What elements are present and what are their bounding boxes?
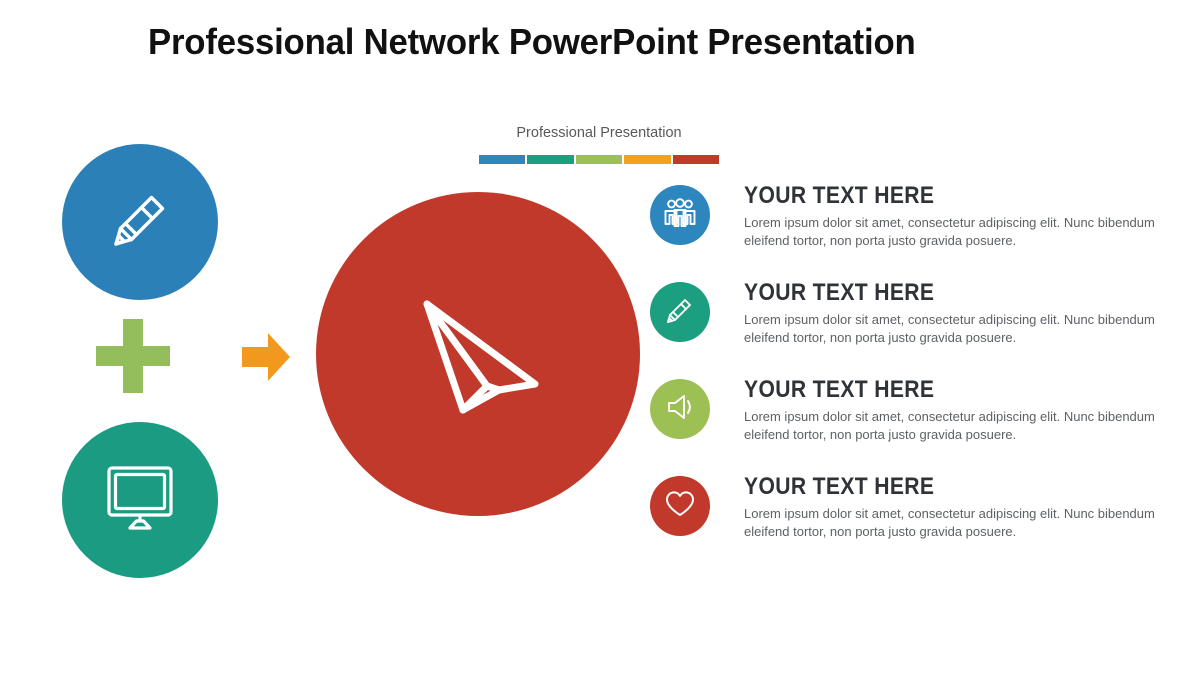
slide-canvas: Professional Network PowerPoint Presenta… — [0, 0, 1200, 675]
list-item-heading: YOUR TEXT HERE — [744, 377, 1136, 403]
list-item-body: YOUR TEXT HERE Lorem ipsum dolor sit ame… — [744, 474, 1190, 540]
list-item-text: Lorem ipsum dolor sit amet, consectetur … — [744, 214, 1185, 249]
people-group-icon — [664, 198, 696, 233]
plus-icon — [96, 319, 170, 393]
paper-plane-circle[interactable] — [316, 192, 640, 516]
pencil-circle[interactable] — [62, 144, 218, 300]
color-bar-segment-green — [576, 155, 622, 164]
list-item[interactable]: YOUR TEXT HERE Lorem ipsum dolor sit ame… — [650, 282, 1190, 379]
color-bar-segment-red — [673, 155, 719, 164]
list-item-heading: YOUR TEXT HERE — [744, 474, 1136, 500]
monitor-icon — [100, 460, 180, 541]
list-item-body: YOUR TEXT HERE Lorem ipsum dolor sit ame… — [744, 183, 1190, 249]
paper-plane-icon — [409, 282, 547, 427]
list-item[interactable]: YOUR TEXT HERE Lorem ipsum dolor sit ame… — [650, 476, 1190, 573]
heart-icon — [664, 489, 696, 524]
list-item-heading: YOUR TEXT HERE — [744, 280, 1136, 306]
pencil-icon — [664, 294, 696, 331]
list-item[interactable]: YOUR TEXT HERE Lorem ipsum dolor sit ame… — [650, 379, 1190, 476]
list-item-body: YOUR TEXT HERE Lorem ipsum dolor sit ame… — [744, 377, 1190, 443]
list-item-text: Lorem ipsum dolor sit amet, consectetur … — [744, 505, 1185, 540]
feature-list: YOUR TEXT HERE Lorem ipsum dolor sit ame… — [650, 185, 1190, 573]
heart-icon-circle[interactable] — [650, 476, 710, 536]
list-item-heading: YOUR TEXT HERE — [744, 183, 1136, 209]
color-bar — [479, 155, 719, 164]
plus-shape — [96, 319, 170, 393]
speaker-icon-circle[interactable] — [650, 379, 710, 439]
list-item-body: YOUR TEXT HERE Lorem ipsum dolor sit ame… — [744, 280, 1190, 346]
speaker-icon — [664, 392, 696, 427]
list-item-text: Lorem ipsum dolor sit amet, consectetur … — [744, 311, 1185, 346]
page-title: Professional Network PowerPoint Presenta… — [148, 20, 916, 64]
arrow-right-icon — [240, 331, 292, 383]
pencil-icon — [101, 181, 179, 264]
color-bar-segment-blue — [479, 155, 525, 164]
list-item[interactable]: YOUR TEXT HERE Lorem ipsum dolor sit ame… — [650, 185, 1190, 282]
color-bar-segment-orange — [624, 155, 670, 164]
monitor-circle[interactable] — [62, 422, 218, 578]
pencil-icon-circle[interactable] — [650, 282, 710, 342]
color-bar-segment-teal — [527, 155, 573, 164]
subtitle-label: Professional Presentation — [479, 124, 719, 142]
arrow-right-shape — [240, 331, 292, 383]
list-item-text: Lorem ipsum dolor sit amet, consectetur … — [744, 408, 1185, 443]
people-group-icon-circle[interactable] — [650, 185, 710, 245]
